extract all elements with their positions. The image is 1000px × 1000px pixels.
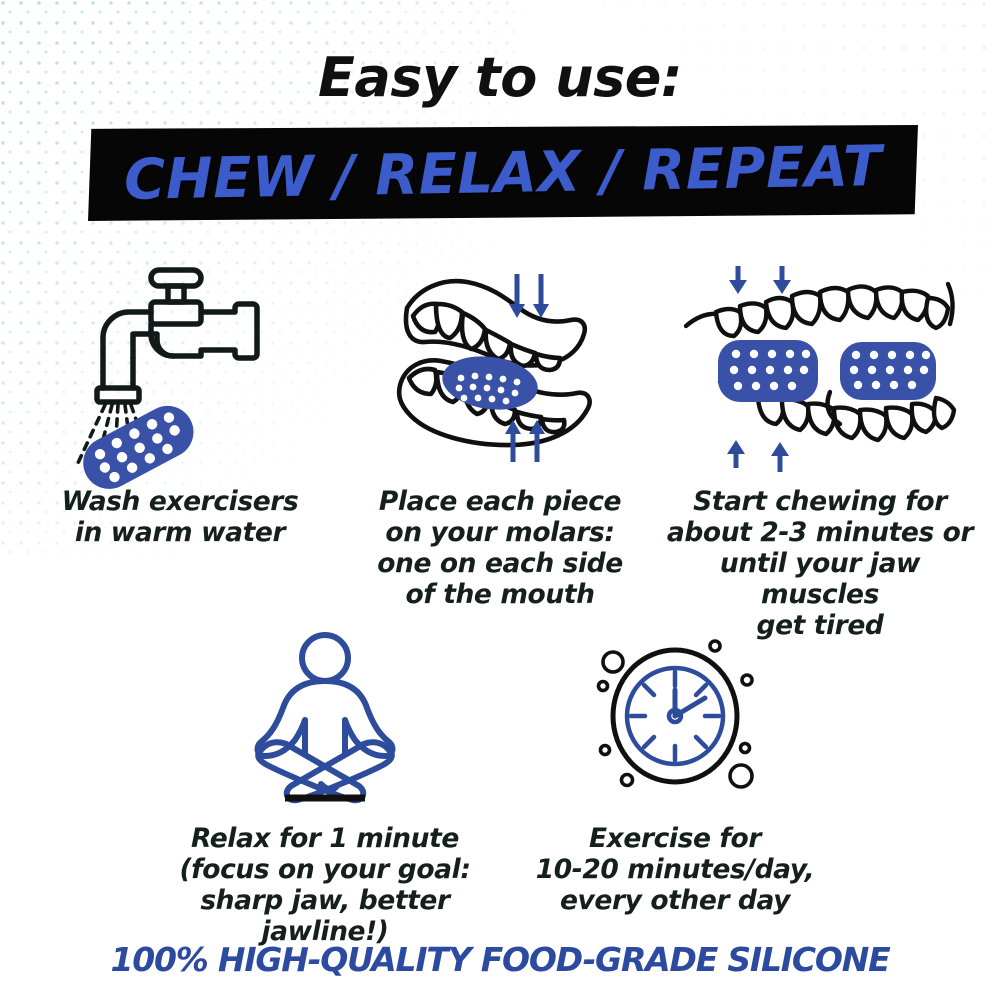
footer-silicone-claim: 100% HIGH-QUALITY FOOD-GRADE SILICONE	[0, 940, 1000, 979]
arrow-down-group	[509, 274, 549, 318]
step-exercise-caption: Exercise for 10-20 minutes/day, every ot…	[536, 823, 815, 916]
step-relax-art	[225, 628, 425, 803]
step-wash-caption: Wash exercisers in warm water	[62, 486, 299, 548]
banner-label: CHEW / RELAX / REPEAT	[87, 117, 919, 228]
clock-icon	[575, 628, 775, 803]
step-place: Place each piece on your molars: one on …	[340, 262, 660, 610]
step-wash-art	[65, 262, 295, 472]
chew-device-left	[718, 340, 818, 402]
chewing-teeth-icon	[680, 262, 960, 472]
step-exercise-art	[575, 628, 775, 803]
step-place-art	[385, 262, 615, 472]
instruction-infographic: Easy to use: CHEW / RELAX / REPEAT	[0, 0, 1000, 1000]
step-relax: Relax for 1 minute (focus on your goal: …	[150, 628, 500, 947]
arrow-down-group	[729, 266, 791, 294]
step-wash: Wash exercisers in warm water	[20, 262, 340, 548]
arrow-up-group	[727, 440, 789, 472]
step-chew: Start chewing for about 2-3 minutes or u…	[660, 262, 980, 641]
step-chew-caption: Start chewing for about 2-3 minutes or u…	[660, 486, 980, 641]
chew-device	[74, 397, 203, 498]
chew-device-right	[840, 342, 936, 400]
step-place-caption: Place each piece on your molars: one on …	[377, 486, 623, 610]
meditation-lotus-icon	[225, 628, 425, 803]
step-exercise: Exercise for 10-20 minutes/day, every ot…	[500, 628, 850, 916]
open-jaw-placement-icon	[385, 262, 615, 472]
steps-row-bottom: Relax for 1 minute (focus on your goal: …	[0, 628, 1000, 947]
chew-relax-repeat-banner: CHEW / RELAX / REPEAT	[88, 125, 918, 221]
step-relax-caption: Relax for 1 minute (focus on your goal: …	[150, 823, 500, 947]
faucet-washing-icon	[65, 262, 295, 472]
steps-row-top: Wash exercisers in warm water	[0, 262, 1000, 641]
step-chew-art	[680, 262, 960, 472]
page-title: Easy to use:	[0, 46, 1000, 109]
